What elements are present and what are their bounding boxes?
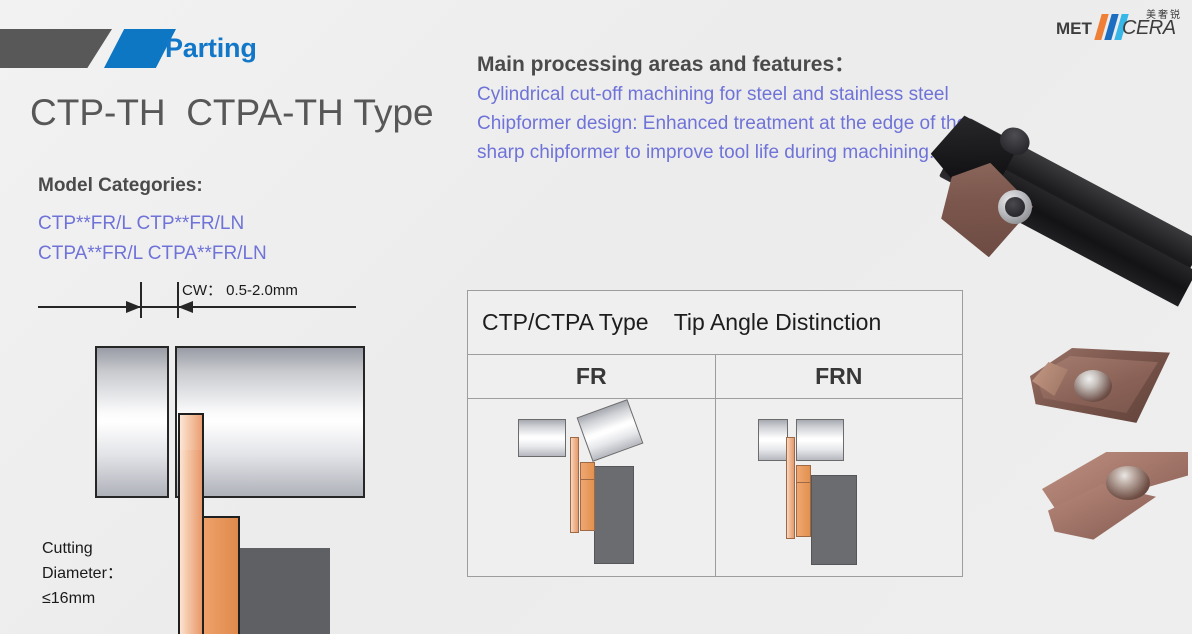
fr-shank xyxy=(594,466,634,564)
dimension-arrow-left-icon xyxy=(126,301,141,313)
table-column-header-frn: FRN xyxy=(716,355,963,398)
frn-holder-lower xyxy=(796,482,811,537)
features-body: Cylindrical cut-off machining for steel … xyxy=(477,80,977,167)
cutting-diameter-note: Cutting Diameter： ≤16mm xyxy=(42,536,123,611)
frn-holder-upper xyxy=(796,465,811,483)
table-title: CTP/CTPA Type Tip Angle Distinction xyxy=(468,309,881,336)
tool-shank xyxy=(238,548,330,634)
dimension-line xyxy=(38,306,356,308)
fr-blade xyxy=(570,437,579,533)
model-categories-line-1: CTP**FR/L CTP**FR/LN xyxy=(38,213,244,235)
frn-shank xyxy=(811,475,857,565)
fr-holder-upper xyxy=(580,462,595,480)
tip-angle-table: CTP/CTPA Type Tip Angle Distinction FR F… xyxy=(467,290,963,577)
brand-logo: 美奢锐 MET CERA xyxy=(1056,6,1184,42)
fr-holder-lower xyxy=(580,479,595,531)
fr-workpiece-left xyxy=(518,419,566,457)
fr-workpiece-right-tilted xyxy=(577,399,644,462)
blade-tip xyxy=(178,413,204,452)
logo-cera-text: CERA xyxy=(1122,17,1176,40)
logo-met-text: MET xyxy=(1056,19,1092,39)
banner-dark-parallelogram xyxy=(0,29,112,68)
photo-insert-1 xyxy=(1030,340,1180,435)
table-title-row: CTP/CTPA Type Tip Angle Distinction xyxy=(468,291,962,355)
tool-holder-upper xyxy=(202,516,240,570)
frn-blade xyxy=(786,437,795,539)
parting-diagram: CW： 0.5-2.0mm Cutting Diameter： ≤16mm xyxy=(30,278,390,634)
page-title: CTP-TH CTPA-TH Type xyxy=(30,92,434,134)
photo-insert-2 xyxy=(1042,452,1192,552)
table-column-header-fr: FR xyxy=(468,355,716,398)
banner-label: Parting xyxy=(165,29,257,68)
workpiece-left xyxy=(95,346,169,498)
features-paragraph-2: Chipformer design: Enhanced treatment at… xyxy=(477,109,977,167)
model-categories-heading: Model Categories: xyxy=(38,175,203,197)
insert2-hole xyxy=(1106,466,1150,500)
insert1-hole xyxy=(1074,370,1112,402)
slide-canvas: Parting CTP-TH CTPA-TH Type Model Catego… xyxy=(0,0,1192,634)
dimension-arrow-right-icon xyxy=(178,301,193,313)
torx-screw-icon xyxy=(1005,197,1025,217)
table-column-header-row: FR FRN xyxy=(468,355,962,399)
table-cell-frn xyxy=(716,399,963,576)
frn-workpiece-right xyxy=(796,419,844,461)
features-heading: Main processing areas and features： xyxy=(477,48,855,78)
header-banner: Parting xyxy=(0,29,470,68)
model-categories-line-2: CTPA**FR/L CTPA**FR/LN xyxy=(38,243,267,265)
table-body-row xyxy=(468,399,962,576)
frn-workpiece-left xyxy=(758,419,788,461)
parting-blade xyxy=(178,450,204,634)
cw-dimension-label: CW： 0.5-2.0mm xyxy=(182,279,298,300)
features-paragraph-1: Cylindrical cut-off machining for steel … xyxy=(477,80,977,109)
tool-holder-lower xyxy=(202,568,240,634)
photo-tool-holder xyxy=(960,58,1192,293)
table-cell-fr xyxy=(468,399,716,576)
